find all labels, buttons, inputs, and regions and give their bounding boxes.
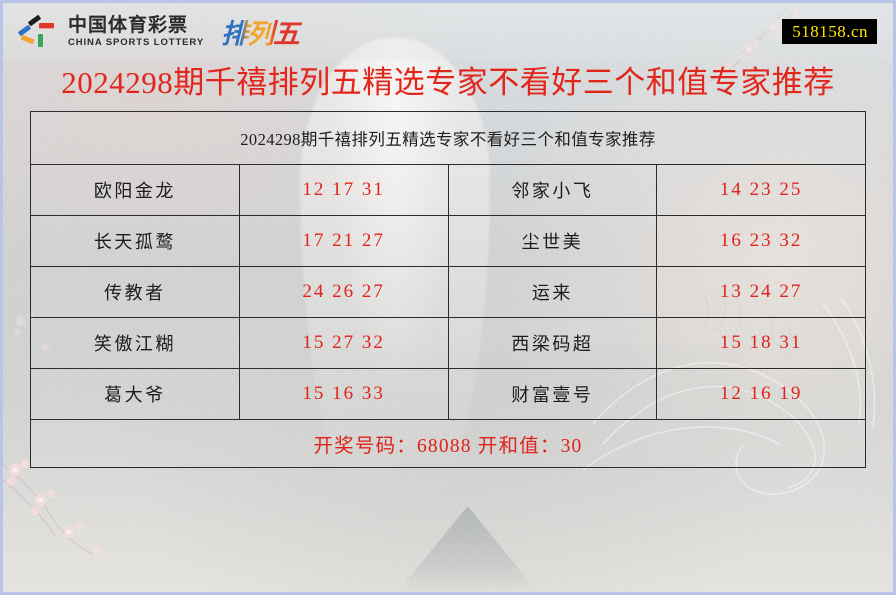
logo-wordmark: 中国体育彩票 CHINA SPORTS LOTTERY bbox=[68, 16, 204, 48]
expert-name-left: 长天孤鹜 bbox=[31, 216, 240, 267]
recommendation-table-wrapper: 2024298期千禧排列五精选专家不看好三个和值专家推荐 欧阳金龙 12 17 … bbox=[30, 111, 866, 468]
expert-numbers-left: 15 27 32 bbox=[239, 318, 448, 369]
expert-numbers-left: 17 21 27 bbox=[239, 216, 448, 267]
expert-numbers-right: 16 23 32 bbox=[657, 216, 866, 267]
expert-name-right: 尘世美 bbox=[448, 216, 657, 267]
lottery-page: 中国体育彩票 CHINA SPORTS LOTTERY 排列五 518158.c… bbox=[0, 0, 896, 595]
site-watermark: 518158.cn bbox=[782, 19, 877, 45]
page-title: 2024298期千禧排列五精选专家不看好三个和值专家推荐 bbox=[25, 64, 871, 102]
table-row: 长天孤鹜 17 21 27 尘世美 16 23 32 bbox=[31, 216, 866, 267]
sports-lottery-emblem-icon bbox=[17, 15, 59, 49]
expert-name-left: 葛大爷 bbox=[31, 369, 240, 420]
expert-numbers-left: 12 17 31 bbox=[239, 165, 448, 216]
game-brand-pailie5: 排列五 bbox=[221, 12, 303, 51]
table-caption: 2024298期千禧排列五精选专家不看好三个和值专家推荐 bbox=[31, 112, 866, 165]
expert-name-right: 财富壹号 bbox=[448, 369, 657, 420]
lottery-logo: 中国体育彩票 CHINA SPORTS LOTTERY 排列五 bbox=[17, 12, 303, 51]
background-mountain-shape bbox=[398, 506, 538, 592]
expert-name-left: 笑傲江糊 bbox=[31, 318, 240, 369]
site-header: 中国体育彩票 CHINA SPORTS LOTTERY 排列五 518158.c… bbox=[3, 3, 893, 60]
table-row: 笑傲江糊 15 27 32 西梁码超 15 18 31 bbox=[31, 318, 866, 369]
expert-name-left: 欧阳金龙 bbox=[31, 165, 240, 216]
table-caption-row: 2024298期千禧排列五精选专家不看好三个和值专家推荐 bbox=[31, 112, 866, 165]
expert-recommendation-table: 2024298期千禧排列五精选专家不看好三个和值专家推荐 欧阳金龙 12 17 … bbox=[30, 111, 866, 468]
expert-name-right: 运来 bbox=[448, 267, 657, 318]
expert-numbers-left: 15 16 33 bbox=[239, 369, 448, 420]
logo-english-name: CHINA SPORTS LOTTERY bbox=[68, 38, 204, 48]
expert-name-right: 邻家小飞 bbox=[448, 165, 657, 216]
expert-numbers-right: 14 23 25 bbox=[657, 165, 866, 216]
table-row: 葛大爷 15 16 33 财富壹号 12 16 19 bbox=[31, 369, 866, 420]
expert-name-right: 西梁码超 bbox=[448, 318, 657, 369]
table-footer-row: 开奖号码：68088 开和值：30 bbox=[31, 420, 866, 468]
expert-numbers-right: 12 16 19 bbox=[657, 369, 866, 420]
expert-name-left: 传教者 bbox=[31, 267, 240, 318]
draw-result-summary: 开奖号码：68088 开和值：30 bbox=[31, 420, 866, 468]
background-blossom-bottom-left bbox=[0, 454, 137, 564]
expert-numbers-right: 13 24 27 bbox=[657, 267, 866, 318]
table-row: 欧阳金龙 12 17 31 邻家小飞 14 23 25 bbox=[31, 165, 866, 216]
expert-numbers-left: 24 26 27 bbox=[239, 267, 448, 318]
expert-numbers-right: 15 18 31 bbox=[657, 318, 866, 369]
logo-chinese-name: 中国体育彩票 bbox=[68, 16, 204, 35]
table-row: 传教者 24 26 27 运来 13 24 27 bbox=[31, 267, 866, 318]
